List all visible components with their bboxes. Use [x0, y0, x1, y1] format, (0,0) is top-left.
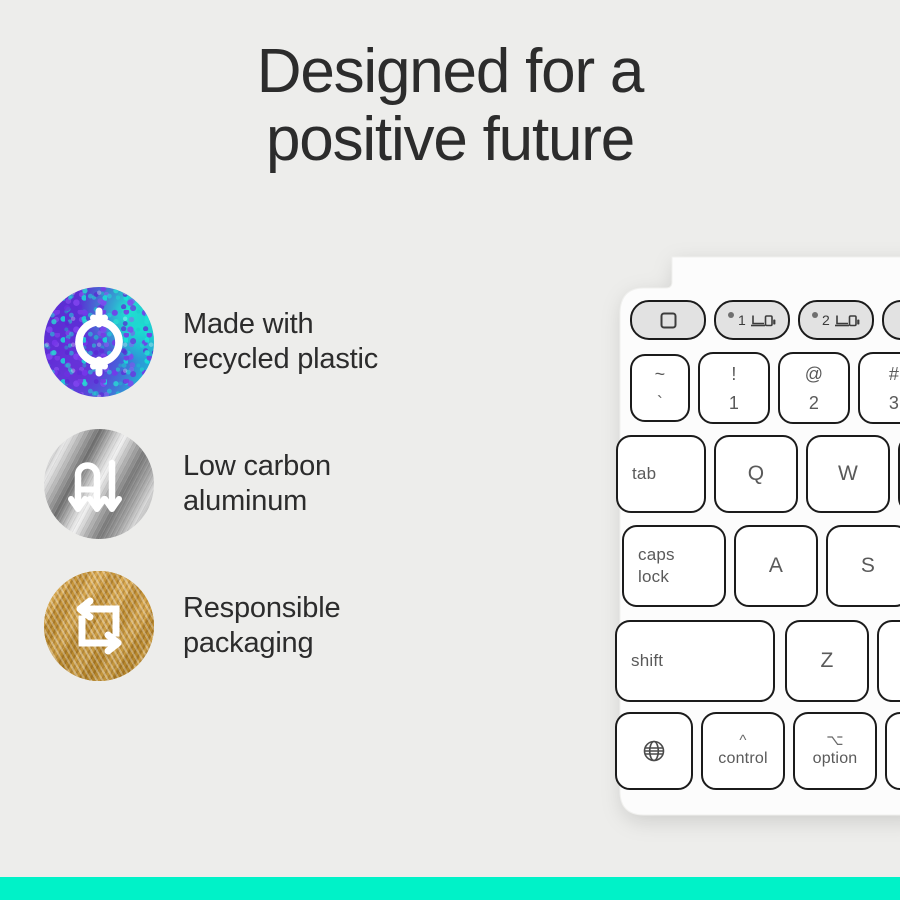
status-dot: [812, 312, 818, 318]
devices-icon: [750, 313, 776, 328]
key-s[interactable]: S: [826, 525, 900, 607]
key-x[interactable]: X: [877, 620, 900, 702]
key-3-shift-label: #: [889, 364, 899, 384]
key-a-label: A: [769, 556, 783, 576]
key-z-label: Z: [820, 651, 833, 671]
recycled-plastic-loop-icon: [44, 287, 154, 397]
key-tilde-shift-label: ~: [655, 364, 666, 384]
key-q-label: Q: [748, 464, 765, 484]
product-feature-panel: Designed for a positive future Made with…: [0, 0, 900, 900]
key-caps-lock-label: caps lock: [638, 544, 675, 588]
key-control[interactable]: ^ control: [701, 712, 785, 790]
status-dot: [728, 312, 734, 318]
feature-item-responsible-packaging: Responsible packaging: [44, 567, 514, 685]
key-3-base-label: 3: [889, 393, 899, 413]
key-option-symbol: ⌥: [826, 734, 844, 748]
key-easyswitch-2[interactable]: 2: [798, 300, 874, 340]
key-option[interactable]: ⌥ option: [793, 712, 877, 790]
key-w-label: W: [838, 464, 858, 484]
key-easyswitch-2-label: 2: [822, 310, 830, 330]
key-control-label: control: [718, 750, 767, 768]
key-easyswitch-1[interactable]: 1: [714, 300, 790, 340]
key-1[interactable]: ! 1: [698, 352, 770, 424]
key-a[interactable]: A: [734, 525, 818, 607]
feature-label-responsible-packaging: Responsible packaging: [183, 591, 340, 661]
key-s-label: S: [861, 556, 875, 576]
packaging-badge: [44, 571, 154, 681]
accent-bar: [0, 877, 900, 900]
feature-list: Made with recycled plastic Low carbon: [44, 283, 514, 685]
square-outline-icon: [659, 311, 678, 330]
aluminum-down-arrow-icon: [44, 429, 154, 539]
key-w[interactable]: W: [806, 435, 890, 513]
key-tab[interactable]: tab: [616, 435, 706, 513]
feature-item-recycled-plastic: Made with recycled plastic: [44, 283, 514, 401]
key-shift-label: shift: [631, 651, 663, 671]
key-tilde[interactable]: ~ `: [630, 354, 690, 422]
key-escape[interactable]: [630, 300, 706, 340]
page-title: Designed for a positive future: [0, 38, 900, 174]
key-caps-lock[interactable]: caps lock: [622, 525, 726, 607]
key-tilde-base-label: `: [657, 393, 663, 413]
key-3[interactable]: # 3: [858, 352, 900, 424]
key-1-shift-label: !: [731, 364, 736, 384]
key-2-shift-label: @: [805, 364, 823, 384]
key-option-label: option: [813, 750, 858, 768]
key-command[interactable]: ⌘: [885, 712, 900, 790]
key-easyswitch-1-label: 1: [738, 310, 746, 330]
devices-icon: [834, 313, 860, 328]
wireless-keyboard: 1 2: [600, 248, 900, 828]
feature-label-recycled-plastic: Made with recycled plastic: [183, 307, 378, 377]
key-z[interactable]: Z: [785, 620, 869, 702]
key-control-symbol: ^: [739, 734, 746, 748]
key-2-base-label: 2: [809, 393, 819, 413]
feature-item-low-carbon-aluminum: Low carbon aluminum: [44, 425, 514, 543]
key-globe[interactable]: [615, 712, 693, 790]
aluminum-badge: [44, 429, 154, 539]
globe-icon: [642, 739, 666, 763]
feature-label-low-carbon-aluminum: Low carbon aluminum: [183, 449, 331, 519]
key-easyswitch-3[interactable]: 3: [882, 300, 900, 340]
key-shift[interactable]: shift: [615, 620, 775, 702]
key-tab-label: tab: [632, 464, 656, 484]
key-2[interactable]: @ 2: [778, 352, 850, 424]
recycled-plastic-badge: [44, 287, 154, 397]
key-1-base-label: 1: [729, 393, 739, 413]
key-q[interactable]: Q: [714, 435, 798, 513]
keyboard-keys: 1 2: [600, 248, 900, 818]
recycling-loop-square-icon: [44, 571, 154, 681]
